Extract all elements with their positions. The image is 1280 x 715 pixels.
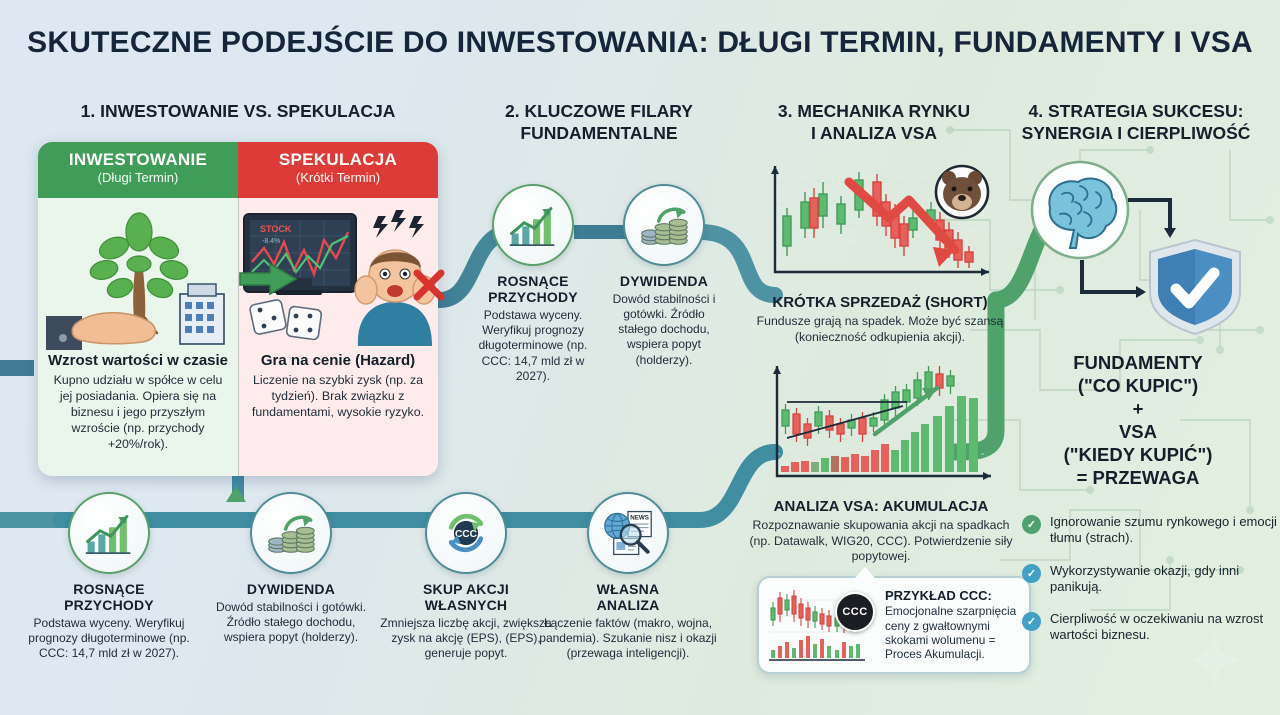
equation-line-5: ("KIEDY KUPIĆ")	[1002, 444, 1274, 467]
bear-icon	[936, 166, 988, 218]
bottom-item-title: DYWIDENDA	[205, 581, 377, 597]
bottom-item-title-line1: DYWIDENDA	[247, 581, 335, 597]
ccc-example-callout: CCC PRZYKŁAD CCC: Emocjonalne szarpnięci…	[757, 576, 1031, 674]
ccc-badge-icon: CCC	[835, 592, 875, 632]
bottom-item-growing-revenue: ROSNĄCE PRZYCHODY Podstawa wyceny. Weryf…	[18, 492, 200, 662]
speculation-caption: Gra na cenie (Hazard)	[246, 352, 430, 369]
checklist-text: Cierpliwość w oczekiwaniu na wzrost wart…	[1050, 611, 1278, 644]
red-cross-icon	[412, 268, 446, 302]
check-icon: ✓	[1022, 612, 1041, 631]
speculation-banner-subtitle: (Krótki Termin)	[238, 170, 438, 185]
checklist-item: ✓ Ignorowanie szumu rynkowego i emocji t…	[1022, 514, 1278, 547]
speculation-description: Liczenie na szybki zysk (np. za tydzień)…	[246, 373, 430, 421]
coins-stack-icon	[250, 492, 332, 574]
shield-check-icon	[1150, 240, 1240, 334]
pillar-title-line2: PRZYCHODY	[488, 289, 578, 305]
investing-vs-speculation-card: INWESTOWANIE (Długi Termin)	[38, 142, 438, 476]
callout-tail	[855, 567, 875, 578]
bottom-item-title: ROSNĄCE PRZYCHODY	[18, 581, 200, 613]
coins-stack-icon	[623, 184, 705, 266]
tree-in-hand-illustration	[38, 198, 238, 350]
bear-market-candlestick-icon	[757, 158, 1005, 286]
section-3-heading: 3. MECHANIKA RYNKU I ANALIZA VSA	[748, 101, 1000, 145]
checklist-text: Wykorzystywanie okazji, gdy inni panikuj…	[1050, 563, 1278, 596]
investing-caption: Wzrost wartości w czasie	[46, 352, 230, 369]
section-2-heading-line2: FUNDAMENTALNE	[468, 123, 730, 145]
section-4-heading: 4. STRATEGIA SUKCESU: SYNERGIA I CIERPLI…	[1002, 101, 1270, 145]
pillar-description: Podstawa wyceny. Weryfikuj prognozy dług…	[473, 308, 593, 384]
callout-body: Emocjonalne szarpnięcia ceny z gwałtowny…	[885, 604, 1021, 662]
pillar-title: DYWIDENDA	[604, 273, 724, 289]
section-3-heading-line2: I ANALIZA VSA	[748, 123, 1000, 145]
check-icon: ✓	[1022, 564, 1041, 583]
checklist-text: Ignorowanie szumu rynkowego i emocji tłu…	[1050, 514, 1278, 547]
dice-icon	[249, 299, 322, 340]
growth-bar-chart-icon	[492, 184, 574, 266]
bottom-item-title-line1: ROSNĄCE	[73, 581, 144, 597]
speculation-banner: SPEKULACJA (Krótki Termin)	[238, 142, 438, 198]
speculation-panel: SPEKULACJA (Krótki Termin) STOCK -8.4%	[238, 142, 438, 476]
bottom-item-description: Łączenie faktów (makro, wojna, pandemia)…	[528, 616, 728, 661]
speculation-banner-title: SPEKULACJA	[238, 142, 438, 170]
accumulation-volume-chart-icon	[757, 358, 1005, 490]
accumulation-title: ANALIZA VSA: AKUMULACJA	[745, 498, 1017, 515]
investing-banner-subtitle: (Długi Termin)	[38, 170, 238, 185]
checklist-item: ✓ Wykorzystywanie okazji, gdy inni panik…	[1022, 563, 1278, 596]
pillar-description: Dowód stabilności i gotówki. Źródło stał…	[604, 292, 724, 368]
accumulation-description: Rozpoznawanie skupowania akcji na spadka…	[745, 518, 1017, 565]
section-3-heading-line1: 3. MECHANIKA RYNKU	[748, 101, 1000, 123]
pillar-title: ROSNĄCE PRZYCHODY	[473, 273, 593, 305]
svg-text:-8.4%: -8.4%	[262, 238, 280, 245]
bottom-item-own-analysis: NEWS	[528, 492, 728, 662]
brain-to-shield-illustration	[1020, 156, 1270, 336]
equation-line-4: VSA	[1002, 421, 1274, 444]
svg-text:NEWS: NEWS	[630, 515, 649, 522]
bottom-item-title-line1: WŁASNA	[597, 581, 660, 597]
ccc-badge-label: CCC	[842, 606, 867, 618]
callout-text: PRZYKŁAD CCC: Emocjonalne szarpnięcia ce…	[885, 588, 1021, 662]
pillar-dividend: DYWIDENDA Dowód stabilności i gotówki. Ź…	[604, 184, 724, 368]
investing-panel: INWESTOWANIE (Długi Termin)	[38, 142, 238, 476]
panel-divider	[238, 198, 239, 476]
investing-banner-title: INWESTOWANIE	[38, 142, 238, 170]
bottom-item-description: Podstawa wyceny. Weryfikuj prognozy dług…	[18, 616, 200, 661]
strategy-equation: FUNDAMENTY ("CO KUPIC") + VSA ("KIEDY KU…	[1002, 352, 1274, 490]
bottom-item-title-line1: SKUP AKCJI	[423, 581, 509, 597]
short-selling-description: Fundusze grają na spadek. Może być szans…	[748, 314, 1012, 345]
bottom-item-title-line2: ANALIZA	[597, 597, 660, 613]
equation-line-1: FUNDAMENTY	[1002, 352, 1274, 375]
pillar-title-line1: DYWIDENDA	[620, 273, 708, 289]
buyback-cycle-ccc-icon: CCC	[425, 492, 507, 574]
bottom-item-dividend: DYWIDENDA Dowód stabilności i gotówki. Ź…	[205, 492, 377, 645]
bottom-item-title-line2: WŁASNYCH	[425, 597, 507, 613]
equation-line-2: ("CO KUPIC")	[1002, 375, 1274, 398]
short-selling-block: KRÓTKA SPRZEDAŻ (SHORT) Fundusze grają n…	[748, 290, 1012, 345]
check-icon: ✓	[1022, 515, 1041, 534]
transition-arrow-icon	[238, 262, 300, 296]
investing-description: Kupno udziału w spółce w celu jej posiad…	[46, 373, 230, 452]
short-selling-title: KRÓTKA SPRZEDAŻ (SHORT)	[748, 294, 1012, 311]
page-title: SKUTECZNE PODEJŚCIE DO INWESTOWANIA: DŁU…	[0, 26, 1280, 60]
equation-line-3: +	[1002, 398, 1274, 421]
section-2-heading-line1: 2. KLUCZOWE FILARY	[468, 101, 730, 123]
growth-bar-chart-icon	[68, 492, 150, 574]
shock-lines-icon	[373, 210, 424, 238]
section-4-heading-line1: 4. STRATEGIA SUKCESU:	[1002, 101, 1270, 123]
bottom-item-title-line2: PRZYCHODY	[64, 597, 154, 613]
section-2-heading: 2. KLUCZOWE FILARY FUNDAMENTALNE	[468, 101, 730, 145]
equation-line-6: = PRZEWAGA	[1002, 467, 1274, 490]
globe-magnifier-news-icon: NEWS	[587, 492, 669, 574]
strategy-checklist: ✓ Ignorowanie szumu rynkowego i emocji t…	[1022, 514, 1278, 660]
bottom-item-title: WŁASNA ANALIZA	[528, 581, 728, 613]
pillar-title-line1: ROSNĄCE	[497, 273, 568, 289]
speculation-body: Gra na cenie (Hazard) Liczenie na szybki…	[238, 352, 438, 421]
svg-text:STOCK: STOCK	[260, 224, 292, 234]
pillar-growing-revenue: ROSNĄCE PRZYCHODY Podstawa wyceny. Weryf…	[473, 184, 593, 384]
accumulation-block: ANALIZA VSA: AKUMULACJA Rozpoznawanie sk…	[745, 494, 1017, 565]
investing-body: Wzrost wartości w czasie Kupno udziału w…	[38, 352, 238, 452]
office-building-icon	[180, 284, 224, 344]
section-1-heading: 1. INWESTOWANIE VS. SPEKULACJA	[28, 101, 448, 123]
callout-title: PRZYKŁAD CCC:	[885, 588, 1021, 603]
checklist-item: ✓ Cierpliwość w oczekiwaniu na wzrost wa…	[1022, 611, 1278, 644]
bottom-item-description: Dowód stabilności i gotówki. Źródło stał…	[205, 600, 377, 645]
investing-banner: INWESTOWANIE (Długi Termin)	[38, 142, 238, 198]
section-4-heading-line2: SYNERGIA I CIERPLIWOŚĆ	[1002, 123, 1270, 145]
